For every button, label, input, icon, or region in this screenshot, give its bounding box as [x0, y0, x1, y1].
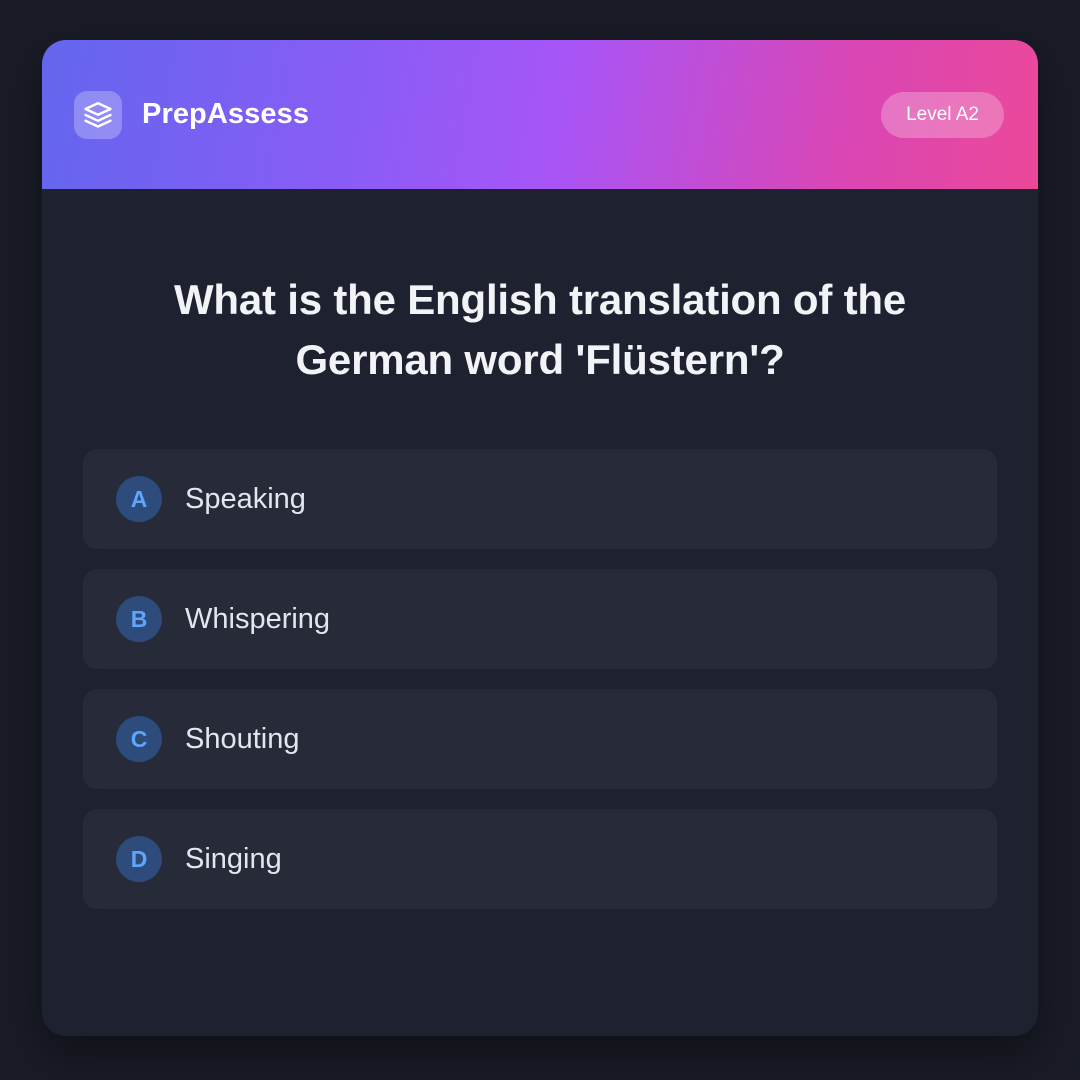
option-key-badge-c: C	[116, 716, 162, 762]
option-label-d: Singing	[185, 843, 282, 876]
answer-option-c[interactable]: C Shouting	[83, 689, 997, 789]
option-label-c: Shouting	[185, 723, 300, 756]
question-text: What is the English translation of the G…	[83, 189, 997, 449]
option-key-badge-b: B	[116, 596, 162, 642]
quiz-body: What is the English translation of the G…	[42, 189, 1038, 909]
layers-stack-icon	[74, 91, 122, 139]
answer-option-d[interactable]: D Singing	[83, 809, 997, 909]
app-header: PrepAssess Level A2	[42, 40, 1038, 189]
level-badge: Level A2	[881, 92, 1004, 138]
option-key-badge-d: D	[116, 836, 162, 882]
brand: PrepAssess	[74, 91, 309, 139]
option-key-badge-a: A	[116, 476, 162, 522]
answer-option-a[interactable]: A Speaking	[83, 449, 997, 549]
quiz-card: PrepAssess Level A2 What is the English …	[42, 40, 1038, 1036]
brand-name: PrepAssess	[142, 98, 309, 131]
option-label-a: Speaking	[185, 483, 306, 516]
option-label-b: Whispering	[185, 603, 330, 636]
answer-options-list: A Speaking B Whispering C Shouting D Sin…	[83, 449, 997, 909]
answer-option-b[interactable]: B Whispering	[83, 569, 997, 669]
